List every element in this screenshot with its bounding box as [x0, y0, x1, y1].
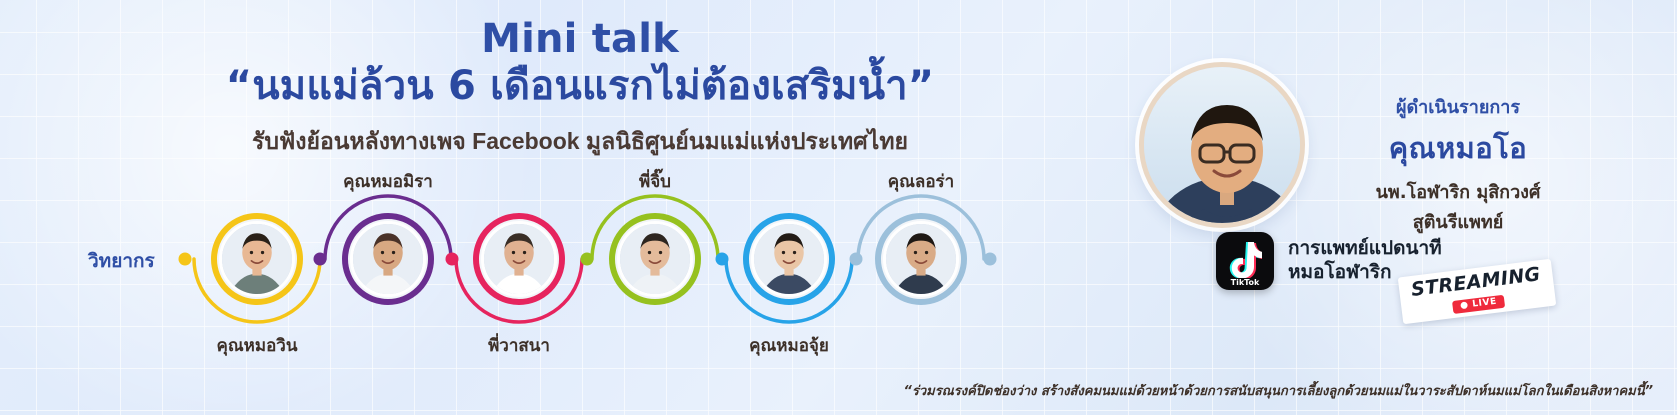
speaker-connector-dot: [850, 253, 863, 266]
speaker-name: คุณหมอวิน: [147, 332, 367, 359]
speaker-connector-dot: [314, 253, 327, 266]
speaker-portrait-illustration: [484, 224, 554, 294]
title-thai: “นมแม่ล้วน 6 เดือนแรกไม่ต้องเสริมน้ำ”: [0, 65, 1160, 108]
title-english: Mini talk: [0, 18, 1160, 61]
speaker-portrait-illustration: [620, 224, 690, 294]
host-fullname: นพ.โอฬาริก มุสิกวงศ์: [1308, 177, 1608, 206]
speaker-avatar: [481, 221, 557, 297]
subtitle: รับฟังย้อนหลังทางเพจ Facebook มูลนิธิศูน…: [0, 124, 1160, 160]
speaker-name: คุณหมอจุ้ย: [679, 332, 899, 359]
host-avatar: [1139, 62, 1305, 228]
tiktok-channel-line1: การแพทย์แปดนาที: [1288, 237, 1442, 261]
speaker-node[interactable]: [342, 213, 434, 305]
speaker-avatar: [751, 221, 827, 297]
footer-tagline: “ร่วมรณรงค์ปิดช่องว่าง สร้างสังคมนมแม่ด้…: [903, 380, 1653, 401]
speaker-name: คุณหมอมิรา: [278, 168, 498, 195]
speaker-connector-dot: [446, 253, 459, 266]
speakers-row: วิทยากร คุณหมอวินคุณหมอมิราพี่วาสนาพี่จิ…: [0, 176, 1080, 346]
host-role: ผู้ดำเนินรายการ: [1308, 92, 1608, 121]
speaker-avatar: [883, 221, 959, 297]
speaker-connector-dot: [984, 253, 997, 266]
host-name: คุณหมอโอ: [1308, 125, 1608, 171]
tiktok-note-glyph: [1228, 240, 1262, 278]
speaker-name: พี่จิ๊บ: [545, 168, 765, 195]
speaker-portrait-illustration: [222, 224, 292, 294]
speaker-name: พี่วาสนา: [409, 332, 629, 359]
live-badge: ● LIVE: [1452, 295, 1506, 314]
speaker-connector-dot: [716, 253, 729, 266]
speaker-portrait-illustration: [353, 224, 423, 294]
speaker-name: คุณลอร่า: [811, 168, 1031, 195]
host-info: ผู้ดำเนินรายการ คุณหมอโอ นพ.โอฬาริก มุสิ…: [1308, 92, 1608, 236]
tiktok-caption: TikTok: [1216, 278, 1274, 287]
speaker-connector-dot: [581, 253, 594, 266]
speaker-portrait-illustration: [886, 224, 956, 294]
speaker-avatar: [350, 221, 426, 297]
speaker-node[interactable]: [875, 213, 967, 305]
speaker-node[interactable]: [743, 213, 835, 305]
speaker-node[interactable]: [473, 213, 565, 305]
speaker-portrait-illustration: [754, 224, 824, 294]
tiktok-icon[interactable]: TikTok: [1216, 232, 1274, 290]
headline-block: Mini talk “นมแม่ล้วน 6 เดือนแรกไม่ต้องเส…: [0, 18, 1160, 160]
speaker-avatar: [617, 221, 693, 297]
speaker-avatar: [219, 221, 295, 297]
speaker-connector-dot: [179, 253, 192, 266]
banner-root: Mini talk “นมแม่ล้วน 6 เดือนแรกไม่ต้องเส…: [0, 0, 1677, 415]
speaker-node[interactable]: [609, 213, 701, 305]
speaker-node[interactable]: [211, 213, 303, 305]
